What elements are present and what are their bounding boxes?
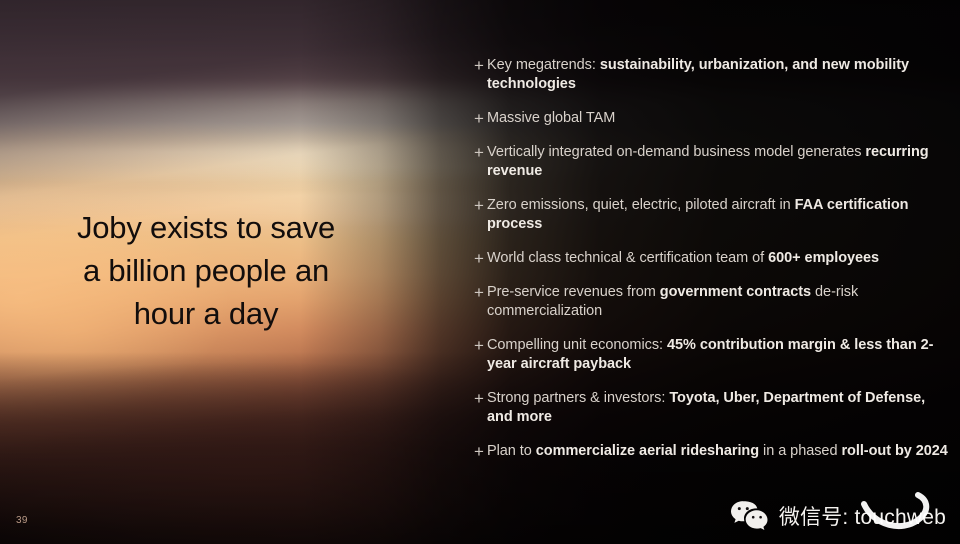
bullet-text: Plan to commercialize aerial ridesharing… (487, 442, 950, 461)
plus-bullet-icon: + (474, 143, 487, 162)
bullet-plain: Key megatrends: (487, 57, 600, 73)
wechat-id-text: 微信号: touchweb (779, 501, 946, 531)
bullet-text: Vertically integrated on-demand business… (487, 143, 950, 181)
bullet-item-zero-emissions-aircraft: +Zero emissions, quiet, electric, pilote… (474, 196, 950, 234)
bullet-emphasis: government contracts (660, 284, 811, 300)
plus-bullet-icon: + (474, 56, 487, 75)
bullet-item-key-megatrends: +Key megatrends: sustainability, urbaniz… (474, 56, 950, 94)
slide-headline: Joby exists to save a billion people an … (14, 206, 398, 335)
bullet-text: Zero emissions, quiet, electric, piloted… (487, 196, 950, 234)
bullet-list: +Key megatrends: sustainability, urbaniz… (474, 56, 950, 461)
bullet-plain: Massive global TAM (487, 110, 615, 126)
plus-bullet-icon: + (474, 109, 487, 128)
bullet-plain: Compelling unit economics: (487, 337, 667, 353)
bullet-emphasis: commercialize aerial ridesharing (536, 443, 759, 459)
bullet-text: Pre-service revenues from government con… (487, 283, 950, 321)
bullet-item-pre-service-revenues: +Pre-service revenues from government co… (474, 283, 950, 321)
bullet-plain: Pre-service revenues from (487, 284, 660, 300)
bullet-item-vertically-integrated-model: +Vertically integrated on-demand busines… (474, 143, 950, 181)
wechat-logo-icon (730, 500, 770, 532)
presentation-slide: Joby exists to save a billion people an … (0, 0, 960, 544)
plus-bullet-icon: + (474, 196, 487, 215)
bullet-text: Massive global TAM (487, 109, 950, 128)
bullet-text: Compelling unit economics: 45% contribut… (487, 336, 950, 374)
bullet-emphasis: roll-out by 2024 (841, 443, 947, 459)
wechat-watermark: 微信号: touchweb (730, 500, 946, 532)
bullet-text: Strong partners & investors: Toyota, Ube… (487, 389, 950, 427)
plus-bullet-icon: + (474, 283, 487, 302)
plus-bullet-icon: + (474, 442, 487, 461)
bullet-plain: Zero emissions, quiet, electric, piloted… (487, 197, 795, 213)
bullet-item-massive-global-tam: +Massive global TAM (474, 109, 950, 128)
bullet-item-compelling-unit-economics: +Compelling unit economics: 45% contribu… (474, 336, 950, 374)
bullet-plain: World class technical & certification te… (487, 250, 768, 266)
slide-number: 39 (16, 515, 28, 526)
bullet-text: World class technical & certification te… (487, 249, 950, 268)
plus-bullet-icon: + (474, 249, 487, 268)
bullet-plain: in a phased (759, 443, 841, 459)
bullet-item-commercialization-plan: +Plan to commercialize aerial ridesharin… (474, 442, 950, 461)
bullet-text: Key megatrends: sustainability, urbaniza… (487, 56, 950, 94)
plus-bullet-icon: + (474, 389, 487, 408)
bullet-plain: Vertically integrated on-demand business… (487, 144, 865, 160)
bullet-plain: Strong partners & investors: (487, 390, 669, 406)
plus-bullet-icon: + (474, 336, 487, 355)
bullet-emphasis: 600+ employees (768, 250, 879, 266)
bullet-item-strong-partners-investors: +Strong partners & investors: Toyota, Ub… (474, 389, 950, 427)
bullet-item-world-class-team: +World class technical & certification t… (474, 249, 950, 268)
bullet-plain: Plan to (487, 443, 536, 459)
